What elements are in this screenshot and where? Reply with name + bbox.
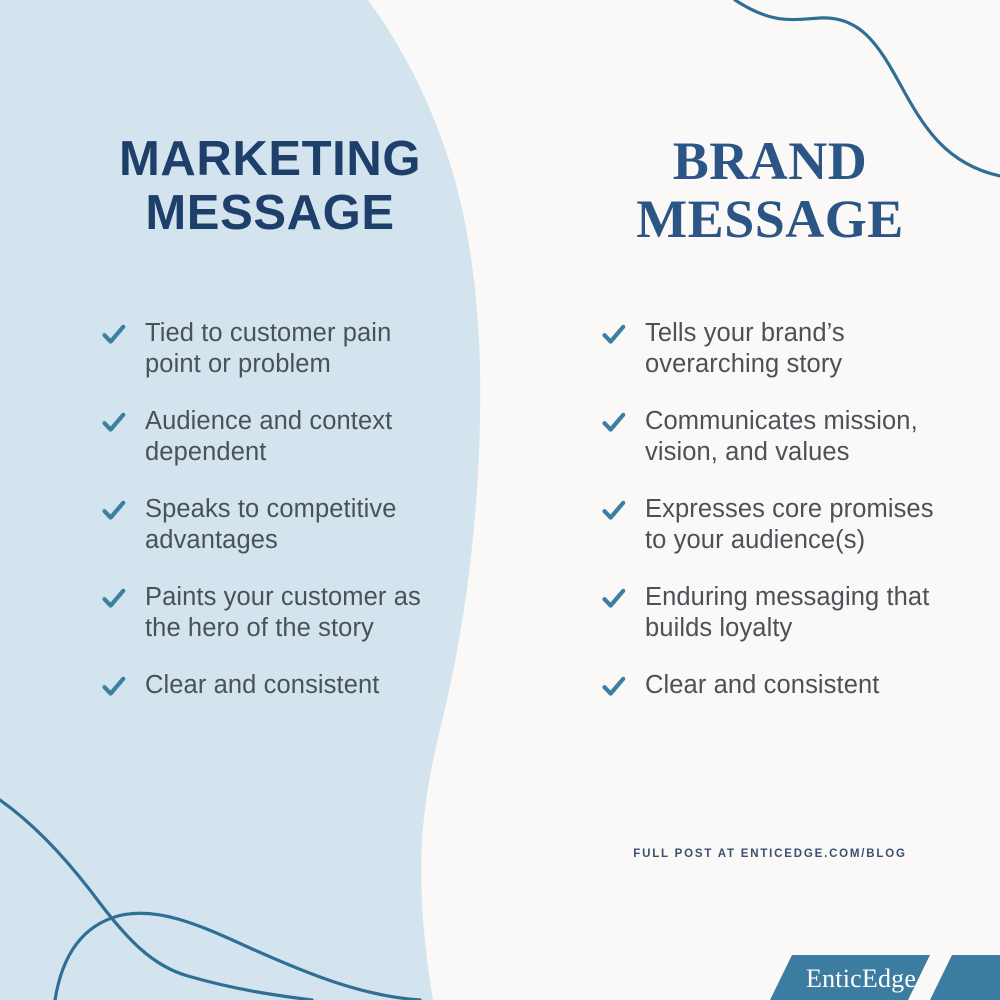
list-item: Tells your brand’s overarching story bbox=[602, 318, 1000, 380]
list-item-label: Clear and consistent bbox=[645, 670, 879, 701]
heading-line-1: BRAND bbox=[560, 132, 980, 190]
list-item: Paints your customer as the hero of the … bbox=[102, 582, 522, 644]
list-item: Clear and consistent bbox=[602, 670, 1000, 701]
check-icon bbox=[602, 322, 626, 348]
check-icon bbox=[102, 498, 126, 524]
check-icon bbox=[102, 586, 126, 612]
check-icon bbox=[602, 498, 626, 524]
list-item-label: Enduring messaging that builds loyalty bbox=[645, 582, 955, 644]
list-item-label: Tied to customer pain point or problem bbox=[145, 318, 445, 380]
list-item-label: Paints your customer as the hero of the … bbox=[145, 582, 445, 644]
list-item: Expresses core promises to your audience… bbox=[602, 494, 1000, 556]
marketing-message-list: Tied to customer pain point or problem A… bbox=[60, 318, 522, 727]
logo-wordmark: EnticEdge bbox=[806, 964, 916, 994]
list-item: Audience and context dependent bbox=[102, 406, 522, 468]
marketing-message-column: MARKETING MESSAGE Tied to customer pain … bbox=[60, 0, 480, 1000]
brand-message-heading: BRAND MESSAGE bbox=[560, 132, 980, 248]
list-item-label: Audience and context dependent bbox=[145, 406, 445, 468]
list-item-label: Communicates mission, vision, and values bbox=[645, 406, 955, 468]
footer-blog-link[interactable]: FULL POST AT ENTICEDGE.COM/BLOG bbox=[560, 848, 980, 860]
list-item-label: Speaks to competitive advantages bbox=[145, 494, 445, 556]
list-item: Enduring messaging that builds loyalty bbox=[602, 582, 1000, 644]
logo-accent-parallelogram bbox=[930, 955, 1000, 1000]
heading-line-2: MESSAGE bbox=[560, 190, 980, 248]
marketing-message-heading: MARKETING MESSAGE bbox=[60, 132, 480, 240]
list-item: Clear and consistent bbox=[102, 670, 522, 701]
list-item: Communicates mission, vision, and values bbox=[602, 406, 1000, 468]
heading-line-1: MARKETING bbox=[60, 132, 480, 186]
infographic-canvas: MARKETING MESSAGE Tied to customer pain … bbox=[0, 0, 1000, 1000]
list-item: Tied to customer pain point or problem bbox=[102, 318, 522, 380]
heading-line-2: MESSAGE bbox=[60, 186, 480, 240]
list-item-label: Expresses core promises to your audience… bbox=[645, 494, 955, 556]
check-icon bbox=[602, 410, 626, 436]
check-icon bbox=[602, 674, 626, 700]
check-icon bbox=[602, 586, 626, 612]
list-item-label: Clear and consistent bbox=[145, 670, 379, 701]
check-icon bbox=[102, 674, 126, 700]
check-icon bbox=[102, 410, 126, 436]
logo[interactable]: EnticEdge bbox=[770, 955, 1000, 1000]
list-item-label: Tells your brand’s overarching story bbox=[645, 318, 955, 380]
list-item: Speaks to competitive advantages bbox=[102, 494, 522, 556]
check-icon bbox=[102, 322, 126, 348]
brand-message-list: Tells your brand’s overarching story Com… bbox=[560, 318, 1000, 727]
